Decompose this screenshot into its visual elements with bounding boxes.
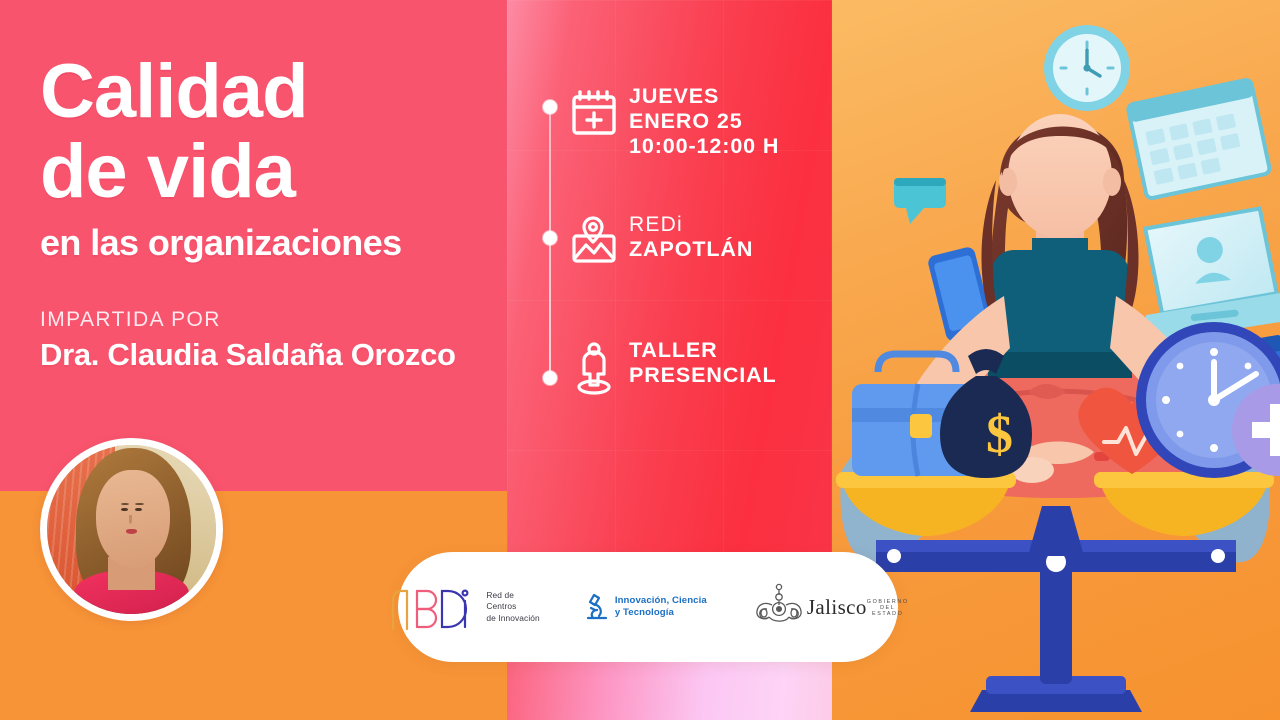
avatar-nose [129,515,133,524]
info-text-date: JUEVES ENERO 25 10:00-12:00 H [623,84,779,159]
person-standing-icon [565,338,623,396]
date-time: 10:00-12:00 H [629,134,779,159]
avatar-eye-left [121,508,128,512]
info-row-location: REDi ZAPOTLÁN [565,212,753,264]
page-title-line-2: de vida [40,132,500,212]
page-title-line-1: Calidad [40,52,500,132]
avatar [40,438,223,621]
wall-clock-icon [1044,25,1130,111]
calendar-plus-icon [565,84,623,136]
avatar-photo [47,445,216,614]
info-text-modality: TALLER PRESENCIAL [623,338,777,388]
speaker-label: IMPARTIDA POR [40,308,500,332]
info-row-date: JUEVES ENERO 25 10:00-12:00 H [565,84,779,159]
calendar-icon [1127,79,1270,199]
modality-line-2: PRESENCIAL [629,363,777,388]
date-month: ENERO 25 [629,109,779,134]
redi-tagline-line-3: de Innovación [486,613,539,625]
ict-label: Innovación, Ciencia y Tecnología [615,595,707,619]
location-venue: REDi [629,212,753,237]
location-city: ZAPOTLÁN [629,237,753,262]
jalisco-crest-icon [751,583,807,632]
headline-block: Calidad de vida en las organizaciones IM… [40,52,500,373]
logo-bar: Red de Centros de Innovación Innovación,… [398,552,898,662]
avatar-face [96,470,170,568]
ict-label-line-1: Innovación, Ciencia [615,595,707,607]
timeline-connector [543,100,557,385]
info-row-modality: TALLER PRESENCIAL [565,338,777,396]
logo-innovacion-ciencia-tecnologia: Innovación, Ciencia y Tecnología [584,592,707,622]
speech-bubble-icon [894,178,946,224]
timeline-dot-2 [543,231,557,245]
avatar-mouth [126,529,137,534]
logo-redi: Red de Centros de Innovación [387,579,539,635]
speaker-block: IMPARTIDA POR Dra. Claudia Saldaña Orozc… [40,308,500,373]
poster-root: $ [0,0,1280,720]
timeline-dot-3 [543,371,557,385]
map-pin-icon [565,212,623,264]
jalisco-subtitle: GOBIERNO DEL ESTADO [867,599,909,617]
logo-jalisco: Jalisco GOBIERNO DEL ESTADO [751,583,909,632]
jalisco-name: Jalisco [807,595,867,620]
redi-tagline-line-2: Centros [486,601,539,613]
page-subtitle: en las organizaciones [40,220,500,266]
modality-line-1: TALLER [629,338,777,363]
date-day: JUEVES [629,84,779,109]
redi-wordmark-icon [387,579,479,635]
info-text-location: REDi ZAPOTLÁN [623,212,753,262]
speaker-name: Dra. Claudia Saldaña Orozco [40,337,500,373]
ict-label-line-2: y Tecnología [615,607,707,619]
microscope-icon [584,592,610,622]
svg-text:$: $ [986,404,1013,464]
avatar-brow-right [135,503,144,505]
redi-tagline-line-1: Red de [486,590,539,602]
avatar-brow-left [121,503,130,505]
avatar-eye-right [135,508,142,512]
redi-tagline: Red de Centros de Innovación [486,590,539,625]
timeline-dot-1 [543,100,557,114]
